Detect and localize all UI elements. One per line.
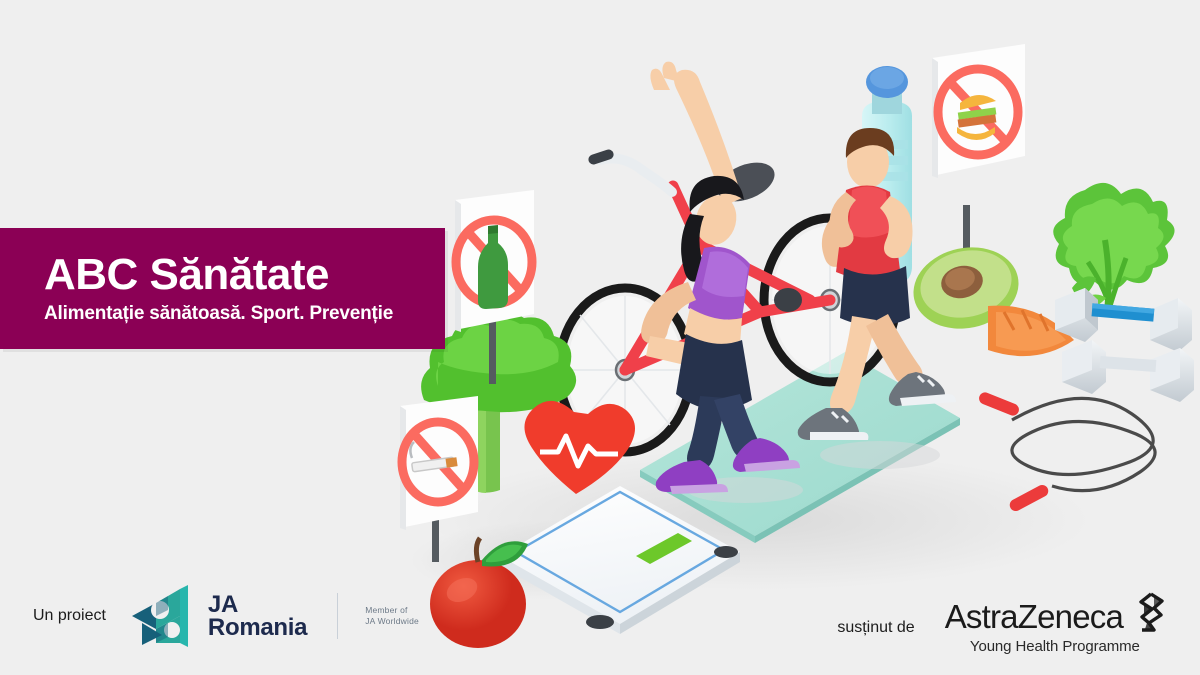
supported-by-label: susținut de	[837, 619, 914, 637]
ja-mark-icon	[128, 583, 194, 649]
astrazeneca-mark-icon	[1121, 590, 1165, 634]
project-by-label: Un proiect	[33, 607, 106, 625]
ja-member-line1: Member of	[365, 605, 419, 616]
astrazeneca-logo[interactable]: AstraZeneca	[945, 600, 1165, 655]
page-subtitle: Alimentație sănătoasă. Sport. Prevenție	[44, 304, 445, 325]
ja-line1: JA	[208, 593, 307, 616]
jump-rope	[1012, 398, 1155, 490]
title-banner: ABC Sănătate Alimentație sănătoasă. Spor…	[0, 228, 445, 349]
lettuce	[1053, 183, 1174, 310]
ja-member-note: Member of JA Worldwide	[365, 605, 419, 626]
ja-member-line2: JA Worldwide	[365, 616, 419, 627]
footer-left-group: Un proiect	[33, 583, 419, 649]
ja-line2: Romania	[208, 616, 307, 639]
bike-handlebar	[587, 148, 672, 192]
astrazeneca-wordmark: AstraZeneca	[945, 600, 1123, 633]
poster-canvas: ABC Sănătate Alimentație sănătoasă. Spor…	[0, 0, 1200, 675]
footer-right-group: susținut de AstraZeneca	[837, 600, 1165, 655]
ja-romania-logo[interactable]: JA Romania Member of JA Worldwide	[128, 583, 419, 649]
page-title: ABC Sănătate	[44, 253, 445, 297]
ja-wordmark: JA Romania	[208, 593, 307, 640]
footer: Un proiect	[0, 565, 1200, 675]
astrazeneca-tagline: Young Health Programme	[970, 638, 1140, 655]
dumbbells	[1055, 288, 1194, 402]
astrazeneca-top-row: AstraZeneca	[945, 600, 1165, 634]
bike-pedal	[774, 288, 802, 312]
logo-divider	[337, 593, 338, 639]
